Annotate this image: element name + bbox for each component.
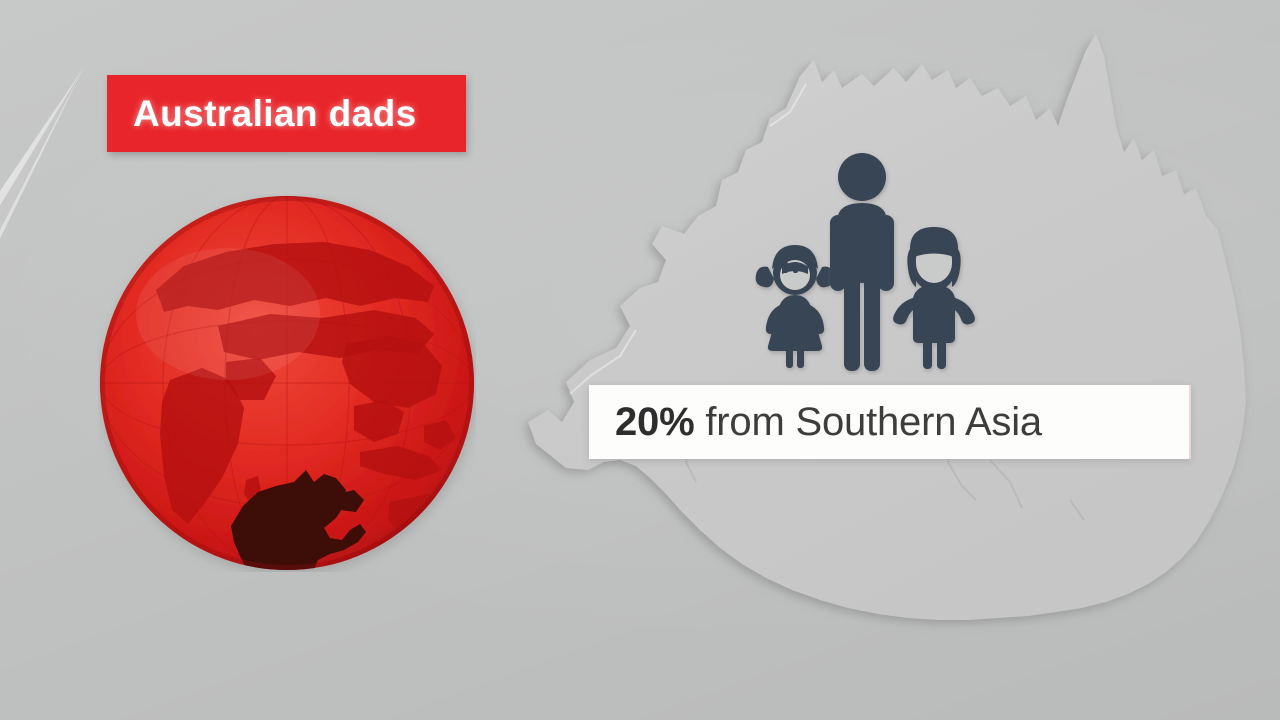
stat-value: 20% xyxy=(615,400,694,444)
page-title: Australian dads xyxy=(133,93,417,135)
title-banner: Australian dads xyxy=(107,75,466,152)
stat-caption-box: 20% from Southern Asia xyxy=(589,385,1191,459)
stat-caption: 20% from Southern Asia xyxy=(615,400,1042,445)
girl-figure xyxy=(756,245,835,368)
man-figure xyxy=(830,153,894,371)
stat-label: from Southern Asia xyxy=(694,400,1042,444)
infographic-canvas: Australian dads 20% from Southern Asia xyxy=(0,0,1280,720)
globe-icon xyxy=(98,194,476,572)
boy-figure xyxy=(893,227,975,369)
family-figures xyxy=(726,145,996,375)
